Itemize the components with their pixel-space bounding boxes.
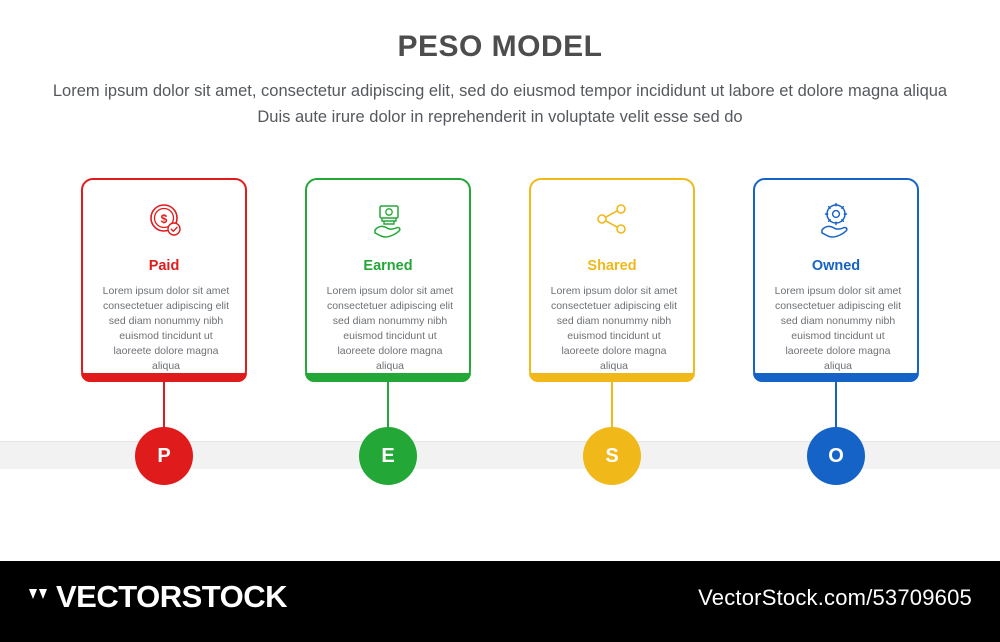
card-bottom-bar	[81, 373, 247, 382]
vectorstock-logo-text: VECTORSTOCK	[56, 579, 287, 614]
footer-bar: VECTORSTOCK VectorStock.com/53709605	[0, 561, 1000, 642]
diagram-canvas: PESO MODEL Lorem ipsum dolor sit amet, c…	[0, 0, 1000, 642]
card-description-owned: Lorem ipsum dolor sit amet consectetuer …	[771, 284, 905, 374]
card-bottom-bar	[753, 373, 919, 382]
badge-letter-shared: S	[605, 445, 618, 468]
connector-line-paid	[163, 382, 165, 428]
card-paid[interactable]: $ Paid Lorem ipsum dolor sit amet consec…	[81, 178, 247, 382]
card-owned[interactable]: Owned Lorem ipsum dolor sit amet consect…	[753, 178, 919, 382]
share-network-icon	[531, 198, 693, 244]
connector-line-owned	[835, 382, 837, 428]
connector-line-shared	[611, 382, 613, 428]
card-label-earned: Earned	[307, 258, 469, 274]
badge-paid[interactable]: P	[135, 427, 193, 485]
connector-line-earned	[387, 382, 389, 428]
card-shared[interactable]: Shared Lorem ipsum dolor sit amet consec…	[529, 178, 695, 382]
money-hand-icon	[307, 198, 469, 244]
footer-url: VectorStock.com/53709605	[698, 585, 972, 611]
card-description-paid: Lorem ipsum dolor sit amet consectetuer …	[99, 284, 233, 374]
card-label-paid: Paid	[83, 258, 245, 274]
card-description-earned: Lorem ipsum dolor sit amet consectetuer …	[323, 284, 457, 374]
card-label-owned: Owned	[755, 258, 917, 274]
badge-letter-paid: P	[157, 445, 170, 468]
card-earned[interactable]: Earned Lorem ipsum dolor sit amet consec…	[305, 178, 471, 382]
badge-owned[interactable]: O	[807, 427, 865, 485]
page-subtitle: Lorem ipsum dolor sit amet, consectetur …	[50, 78, 950, 130]
svg-text:$: $	[161, 212, 168, 226]
card-bottom-bar	[529, 373, 695, 382]
vectorstock-mark-icon	[28, 581, 50, 603]
dollar-coin-icon: $	[83, 198, 245, 244]
badge-letter-owned: O	[828, 445, 844, 468]
badge-shared[interactable]: S	[583, 427, 641, 485]
gear-hand-icon	[755, 198, 917, 244]
card-label-shared: Shared	[531, 258, 693, 274]
card-bottom-bar	[305, 373, 471, 382]
page-title: PESO MODEL	[0, 30, 1000, 64]
card-description-shared: Lorem ipsum dolor sit amet consectetuer …	[547, 284, 681, 374]
badge-letter-earned: E	[381, 445, 394, 468]
vectorstock-logo: VECTORSTOCK	[28, 579, 287, 615]
badge-earned[interactable]: E	[359, 427, 417, 485]
